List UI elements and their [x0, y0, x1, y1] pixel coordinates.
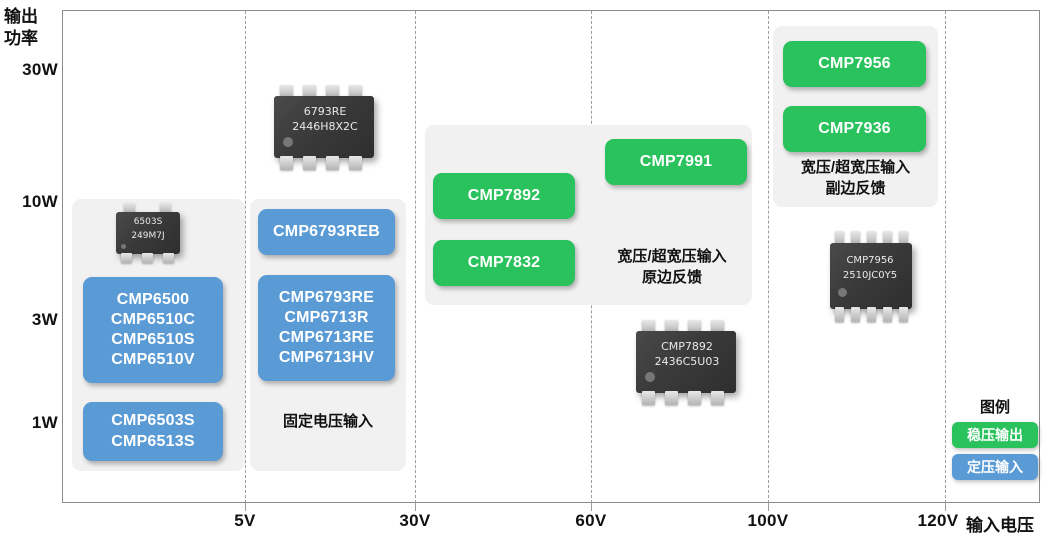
ic-marking-line2: 2436C5U03 [632, 355, 742, 368]
pill-cmp6793re-group[interactable]: CMP6793RE CMP6713R CMP6713RE CMP6713HV [258, 275, 395, 381]
pill-cmp7892[interactable]: CMP7892 [433, 173, 575, 219]
ic-marking-line1: CMP7892 [632, 340, 742, 353]
ic-marking-line1: CMP7956 [822, 255, 918, 266]
legend-item-regulated-output[interactable]: 稳压输出 [952, 422, 1038, 448]
legend-title: 图例 [952, 396, 1038, 417]
tick-30v [415, 503, 416, 511]
y-tick-3w: 3W [2, 310, 58, 330]
pill-cmp6793reb[interactable]: CMP6793REB [258, 209, 395, 255]
gridline-100v [768, 11, 769, 503]
pill-cmp7956[interactable]: CMP7956 [783, 41, 926, 87]
tick-60v [591, 503, 592, 511]
caption-secondary-feedback: 宽压/超宽压输入 副边反馈 [775, 157, 936, 200]
ic-package-soic-6793re: 6793RE 2446H8X2C [270, 85, 380, 173]
ic-package-soic-7892: CMP7892 2436C5U03 [632, 320, 742, 408]
legend: 图例 稳压输出 定压输入 [952, 396, 1038, 486]
caption-primary-feedback: 宽压/超宽压输入 原边反馈 [592, 246, 752, 289]
pill-cmp7936[interactable]: CMP7936 [783, 106, 926, 152]
ic-package-tssop-7956: CMP7956 2510JC0Y5 [822, 231, 918, 325]
pill-cmp6500-group[interactable]: CMP6500 CMP6510C CMP6510S CMP6510V [83, 277, 223, 383]
y-tick-30w: 30W [2, 60, 58, 80]
ic-marking-line2: 2446H8X2C [270, 120, 380, 133]
tick-120v [945, 503, 946, 511]
ic-marking-line2: 249M7J [110, 231, 186, 241]
y-tick-10w: 10W [2, 192, 58, 212]
tick-5v [245, 503, 246, 511]
x-tick-60v: 60V [546, 511, 636, 531]
pill-cmp6503s-group[interactable]: CMP6503S CMP6513S [83, 402, 223, 461]
pill-cmp7991[interactable]: CMP7991 [605, 139, 747, 185]
pill-cmp7832[interactable]: CMP7832 [433, 240, 575, 286]
gridline-5v [245, 11, 246, 503]
x-tick-5v: 5V [200, 511, 290, 531]
ic-marking-line2: 2510JC0Y5 [822, 270, 918, 281]
y-axis-title: 输出 功率 [4, 6, 60, 50]
ic-marking-line1: 6503S [110, 217, 186, 227]
x-tick-100v: 100V [723, 511, 813, 531]
y-tick-1w: 1W [2, 413, 58, 433]
ic-package-sot23-6503s: 6503S 249M7J [110, 203, 186, 265]
tick-100v [768, 503, 769, 511]
caption-fixed-voltage-input: 固定电压输入 [250, 411, 406, 432]
ic-marking-line1: 6793RE [270, 105, 380, 118]
x-tick-30v: 30V [370, 511, 460, 531]
legend-item-fixed-input[interactable]: 定压输入 [952, 454, 1038, 480]
x-tick-120v: 120V [893, 511, 983, 531]
gridline-120v [945, 11, 946, 503]
gridline-30v [415, 11, 416, 503]
